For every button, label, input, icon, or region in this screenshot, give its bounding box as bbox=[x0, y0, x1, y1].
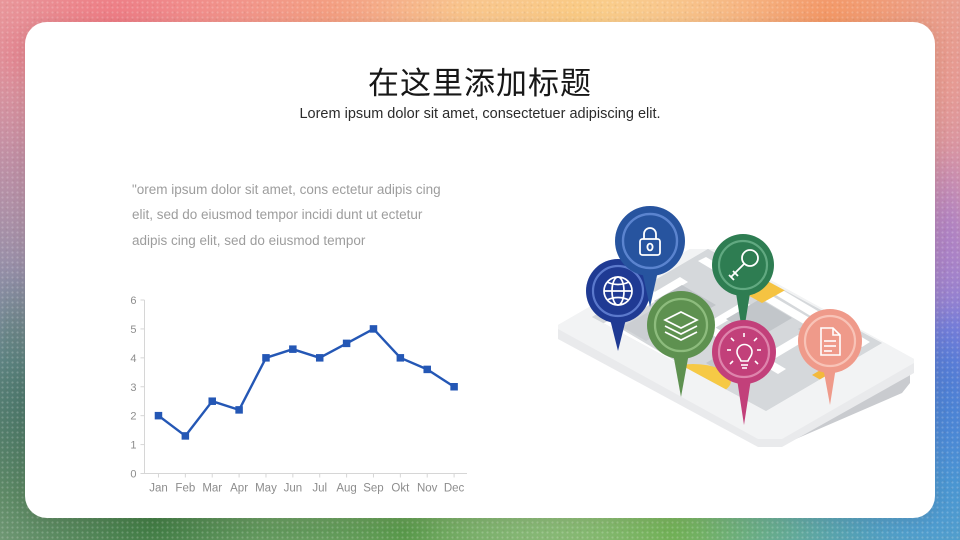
y-tick-labels: 0123456 bbox=[130, 295, 136, 481]
y-tick-label: 0 bbox=[130, 469, 136, 481]
series-marker bbox=[182, 432, 190, 440]
illustration-phone-map bbox=[530, 197, 930, 467]
y-tick-label: 3 bbox=[130, 382, 136, 394]
y-tick-label: 4 bbox=[130, 353, 136, 365]
y-tick-label: 1 bbox=[130, 440, 136, 452]
chart-y-axis: 0123456 bbox=[130, 295, 144, 481]
x-tick-label: Nov bbox=[417, 483, 438, 495]
page-subtitle: Lorem ipsum dolor sit amet, consectetuer… bbox=[25, 106, 935, 122]
series-line-1 bbox=[159, 329, 455, 436]
series-marker bbox=[155, 412, 163, 420]
x-tick-label: Sep bbox=[363, 483, 383, 495]
body-paragraph: "orem ipsum dolor sit amet, cons ectetur… bbox=[132, 177, 442, 253]
x-tick-label: Jan bbox=[149, 483, 168, 495]
y-tick-label: 2 bbox=[130, 411, 136, 423]
slide-card: 在这里添加标题 Lorem ipsum dolor sit amet, cons… bbox=[25, 22, 935, 518]
x-tick-label: Jun bbox=[284, 483, 303, 495]
series-marker bbox=[262, 354, 270, 361]
x-tick-labels: JanFebMarAprMayJunJulAugSepOktNovDec bbox=[149, 483, 464, 495]
x-tick-label: Feb bbox=[175, 483, 195, 495]
series-marker bbox=[289, 345, 297, 353]
series-marker bbox=[370, 325, 378, 333]
illustration-svg bbox=[530, 197, 930, 467]
chart-series-group bbox=[155, 325, 458, 439]
series-marker bbox=[343, 340, 351, 348]
x-tick-label: Okt bbox=[391, 483, 410, 495]
line-chart: 0123456 JanFebMarAprMayJunJulAugSepOktNo… bbox=[123, 292, 473, 497]
x-tick-label: Dec bbox=[444, 483, 465, 495]
series-marker bbox=[423, 366, 431, 374]
chart-svg: 0123456 JanFebMarAprMayJunJulAugSepOktNo… bbox=[123, 292, 473, 497]
chart-x-axis: JanFebMarAprMayJunJulAugSepOktNovDec bbox=[145, 474, 468, 495]
x-tick-label: Apr bbox=[230, 483, 248, 495]
series-marker bbox=[397, 354, 405, 361]
series-marker bbox=[235, 406, 243, 414]
series-marker bbox=[450, 383, 458, 391]
x-tick-label: Jul bbox=[312, 483, 327, 495]
series-marker bbox=[316, 354, 324, 361]
series-marker bbox=[208, 397, 216, 405]
x-tick-marks bbox=[158, 474, 454, 478]
y-tick-label: 5 bbox=[130, 324, 136, 336]
y-tick-label: 6 bbox=[130, 295, 136, 307]
x-tick-label: Mar bbox=[202, 483, 222, 495]
y-tick-marks bbox=[141, 300, 145, 474]
series-markers-1 bbox=[155, 325, 458, 439]
page-title: 在这里添加标题 bbox=[25, 58, 935, 103]
x-tick-label: May bbox=[255, 483, 277, 495]
x-tick-label: Aug bbox=[336, 483, 356, 495]
